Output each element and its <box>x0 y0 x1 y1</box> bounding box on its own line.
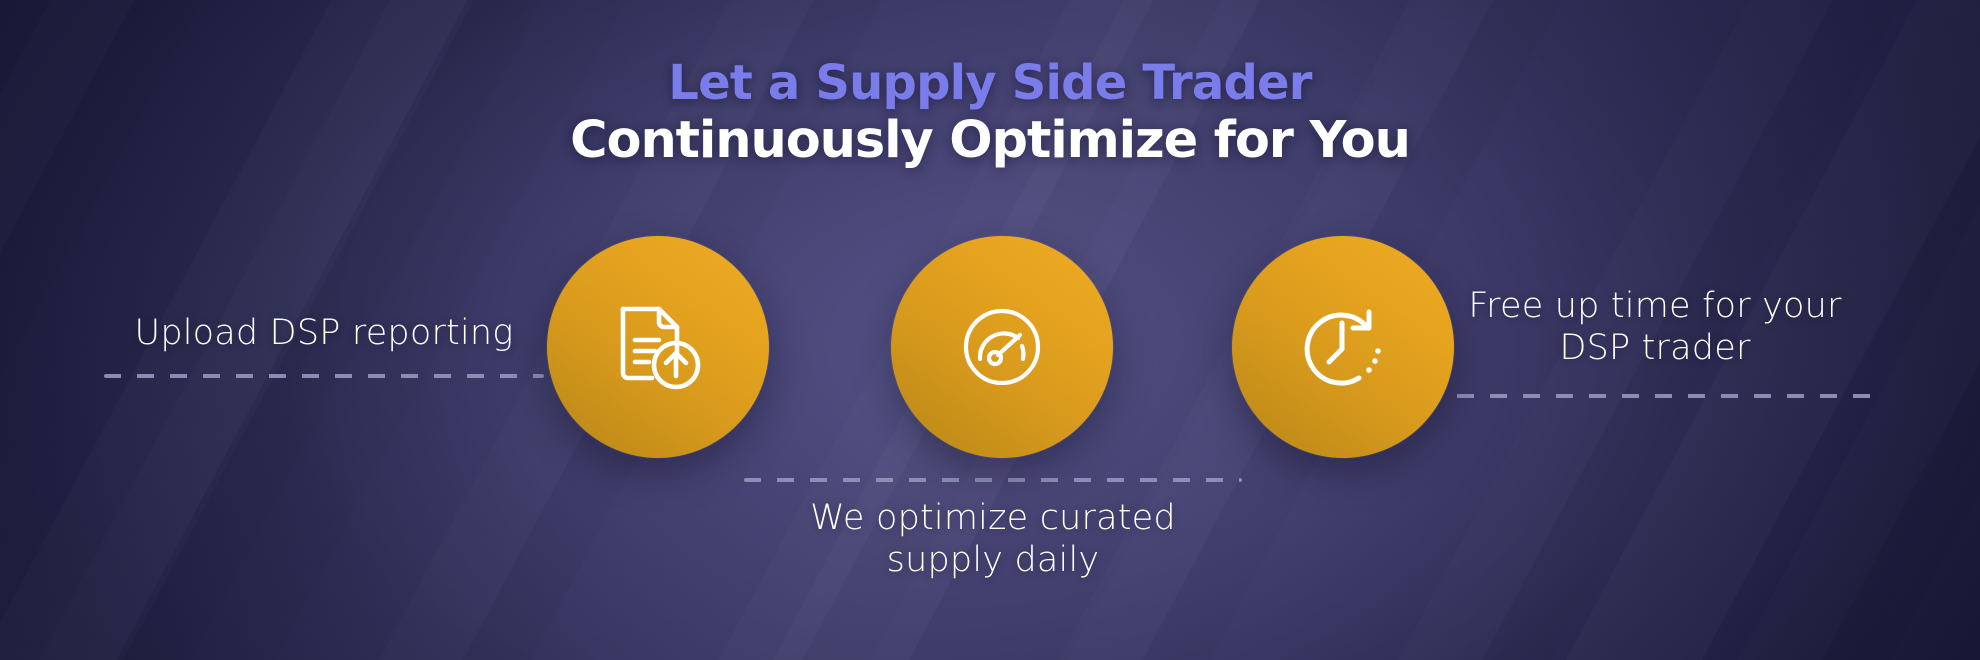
step-caption-free-time: Free up time for your DSP trader <box>1424 285 1886 369</box>
caption-line: Upload DSP reporting <box>104 312 544 354</box>
connector-dash-left <box>104 374 544 378</box>
headline-group: Let a Supply Side Trader Continuously Op… <box>0 58 1980 169</box>
document-upload-icon <box>606 295 710 399</box>
connector-dash-middle <box>744 478 1242 482</box>
step-icon-circle-upload[interactable] <box>547 236 769 458</box>
headline-primary: Let a Supply Side Trader <box>0 58 1980 109</box>
step-caption-upload: Upload DSP reporting <box>104 312 544 354</box>
caption-line: DSP trader <box>1424 327 1886 369</box>
caption-line: supply daily <box>744 539 1242 581</box>
speedometer-icon <box>952 297 1052 397</box>
step-icon-circle-optimize[interactable] <box>891 236 1113 458</box>
caption-line: Free up time for your <box>1424 285 1886 327</box>
connector-dash-right <box>1424 394 1886 398</box>
clock-arrow-icon <box>1291 295 1395 399</box>
caption-line: We optimize curated <box>744 497 1242 539</box>
step-caption-optimize: We optimize curated supply daily <box>744 497 1242 581</box>
headline-secondary: Continuously Optimize for You <box>0 113 1980 169</box>
step-icon-circle-free-time[interactable] <box>1232 236 1454 458</box>
promo-banner: Let a Supply Side Trader Continuously Op… <box>0 0 1980 660</box>
